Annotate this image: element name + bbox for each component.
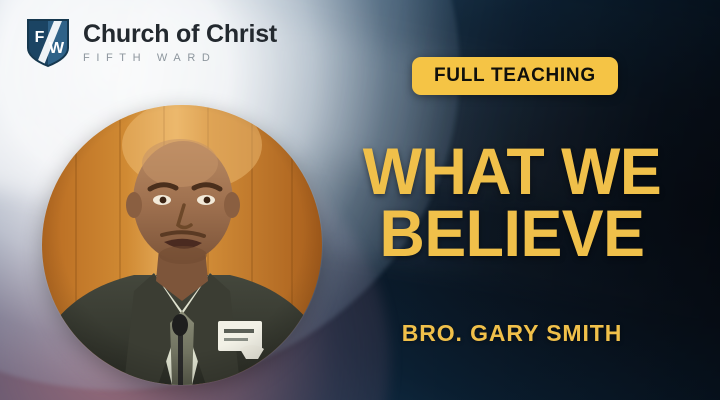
speaker-portrait-image (42, 105, 322, 385)
brand-lockup: F W Church of Christ FIFTH WARD (26, 18, 277, 68)
svg-text:W: W (49, 40, 65, 57)
brand-name: Church of Christ (83, 22, 277, 47)
brand-subtitle: FIFTH WARD (83, 53, 277, 64)
fw-shield-logo-icon: F W (26, 18, 70, 68)
headline: WHAT WE BELIEVE (334, 140, 690, 264)
headline-line-2: BELIEVE (343, 202, 681, 264)
speaker-portrait (42, 105, 322, 385)
brand-wordmark: Church of Christ FIFTH WARD (83, 22, 277, 64)
badge-label: FULL TEACHING (434, 65, 596, 87)
headline-line-1: WHAT WE (343, 140, 681, 202)
speaker-name: BRO. GARY SMITH (334, 320, 690, 347)
video-thumbnail: F W Church of Christ FIFTH WARD FULL TEA… (0, 0, 720, 400)
full-teaching-badge[interactable]: FULL TEACHING (412, 57, 618, 95)
svg-text:F: F (35, 29, 45, 46)
